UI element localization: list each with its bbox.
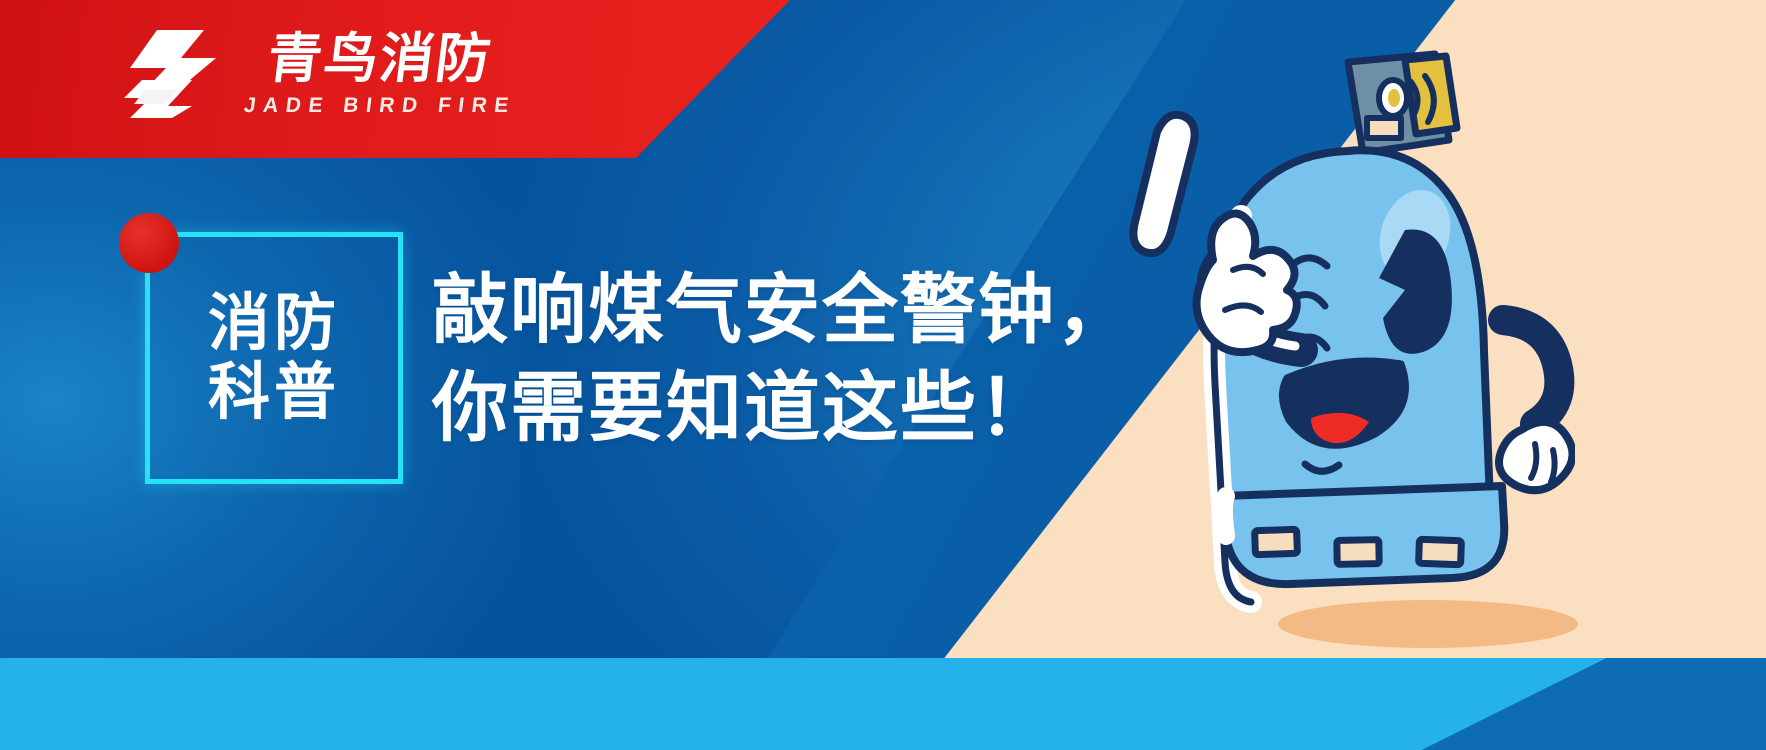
jade-bird-arrow-logo-icon [120,28,222,120]
brand-name-en: JADE BIRD FIRE [243,95,517,116]
topic-badge: 消防 科普 [145,232,403,484]
brand-name-cn: 青鸟消防 [265,32,496,86]
mascot-right-hand [1499,320,1573,490]
fire-safety-promo-banner: 青鸟消防 JADE BIRD FIRE 消防 科普 敲响煤气安全警钟， 你需要知… [0,0,1766,750]
brand-logo: 青鸟消防 JADE BIRD FIRE [120,28,516,120]
headline-line-1: 敲响煤气安全警钟， [432,262,1134,360]
headline-line-2: 你需要知道这些！ [432,360,1134,458]
topic-badge-line2: 科普 [208,358,340,427]
topic-badge-line1: 消防 [208,289,340,358]
gas-cylinder-mascot [1105,20,1575,640]
gas-detector-icon [1348,54,1457,153]
headline: 敲响煤气安全警钟， 你需要知道这些！ [432,262,1134,458]
